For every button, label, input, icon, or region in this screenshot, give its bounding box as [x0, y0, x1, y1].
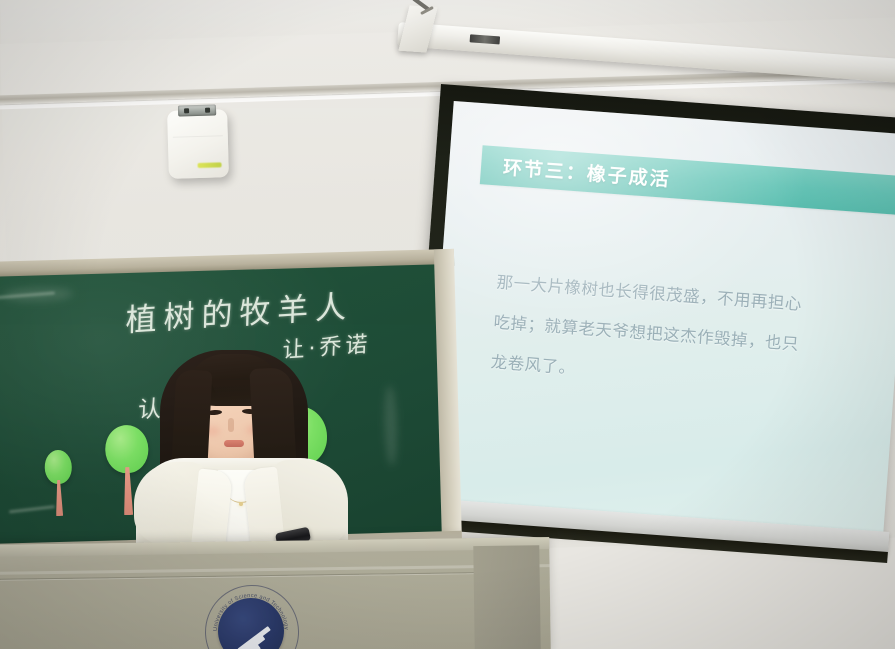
slide-title-banner: 环节三：橡子成活: [480, 145, 895, 216]
nose: [228, 418, 234, 432]
roller-label: [470, 34, 501, 44]
access-point-seam: [173, 135, 223, 137]
access-point-led: [198, 162, 222, 168]
lectern-side-panel: [473, 545, 541, 649]
tree-crown: [44, 450, 72, 485]
slide-surface: 环节三：橡子成活 那一大片橡树也长得很茂盛，不用再担心 吃掉；就算老天爷想把这杰…: [424, 101, 895, 538]
wireless-access-point-icon: [167, 109, 229, 179]
tree-trunk: [55, 480, 63, 516]
slide-body-text: 那一大片橡树也长得很茂盛，不用再担心 吃掉；就算老天爷想把这杰作毁掉，也只 龙卷…: [489, 263, 895, 414]
classroom-photo: 环节三：橡子成活 那一大片橡树也长得很茂盛，不用再担心 吃掉；就算老天爷想把这杰…: [0, 0, 895, 649]
chalk-streak: [9, 505, 55, 513]
mouth: [224, 440, 244, 447]
necklace-pendant: [239, 502, 243, 506]
slide-title-text: 环节三：橡子成活: [502, 153, 672, 192]
access-point-grille: [178, 104, 216, 116]
chalk-smudge: [384, 386, 398, 466]
projection-screen: 环节三：橡子成活 那一大片橡树也长得很茂盛，不用再担心 吃掉；就算老天爷想把这杰…: [407, 84, 895, 587]
university-emblem: University of Science and Technology: [204, 584, 297, 649]
